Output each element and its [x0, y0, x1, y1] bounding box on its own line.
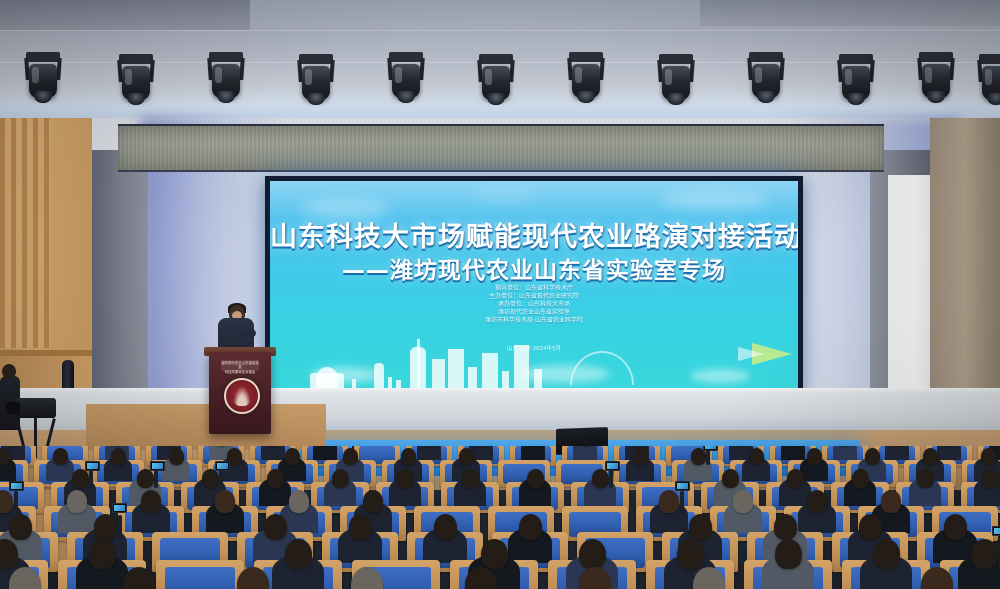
attendee-head	[67, 490, 87, 512]
smartphone-icon	[703, 446, 718, 451]
skyline-graphic	[270, 333, 798, 389]
attendee-head	[462, 469, 479, 488]
smartphone-icon	[85, 461, 100, 471]
camera-body	[16, 398, 56, 418]
attendee-head	[923, 448, 938, 465]
attendee-head	[527, 469, 544, 488]
attendee-shoulders	[833, 446, 858, 460]
attendee-head	[72, 469, 89, 488]
smartphone-icon	[605, 461, 620, 471]
stage-wood-rail	[86, 404, 326, 450]
credit-line: 潍坊现代农业山东省实验室	[270, 309, 798, 317]
attendee-head	[363, 490, 383, 512]
attendee-head	[111, 448, 126, 465]
attendee-head	[137, 469, 154, 488]
auditorium-seat[interactable]	[156, 560, 244, 589]
attendee-head	[633, 448, 648, 465]
smartphone-icon	[112, 503, 127, 513]
attendee-shoulders	[313, 446, 338, 460]
attendee-head	[944, 514, 967, 540]
attendee-head	[0, 490, 13, 512]
podium: 潍坊现代农业山东省实验室 科技成果转化对接会	[209, 352, 271, 434]
attendee-shoulders	[937, 446, 962, 460]
attendee-shoulders	[885, 446, 910, 460]
attendee-head	[401, 448, 416, 465]
attendee-head	[141, 490, 161, 512]
attendee-head	[519, 514, 542, 540]
attendee-head	[774, 514, 797, 540]
attendee-head	[9, 514, 32, 540]
attendee-head	[852, 469, 869, 488]
spotlight-icon	[835, 54, 877, 110]
smartphone-icon	[150, 461, 165, 471]
attendee-raised-arm	[706, 449, 710, 466]
attendee-head	[264, 514, 287, 540]
attendee-head	[332, 469, 349, 488]
attendee-head	[94, 514, 117, 540]
wood-slats	[0, 118, 50, 348]
attendee-head	[53, 448, 68, 465]
credit-line: 承办单位：山东科技大市场	[270, 301, 798, 309]
attendee-shoulders	[573, 446, 598, 460]
smartphone-icon	[215, 461, 230, 471]
attendee-shoulders	[261, 446, 286, 460]
attendee-shoulders	[417, 446, 442, 460]
attendee-head	[267, 469, 284, 488]
attendee-head	[659, 490, 679, 512]
attendee-head	[859, 514, 882, 540]
arrow-graphic	[738, 347, 764, 361]
attendee-head	[343, 448, 358, 465]
attendee-raised-arm	[118, 515, 122, 540]
podium-nameplate: 潍坊现代农业山东省实验室 科技成果转化对接会	[221, 360, 259, 371]
screen-subtitle: ——潍坊现代农业山东省实验室专场	[270, 251, 798, 285]
cloud-graphic	[470, 187, 540, 201]
ceiling-seam	[0, 30, 1000, 31]
attendee-head	[749, 448, 764, 465]
ceiling-panel-left	[0, 0, 250, 30]
attendee-head	[215, 490, 235, 512]
auditorium-photo: 山东科技大市场赋能现代农业路演对接活动 ——潍坊现代农业山东省实验室专场 指导单…	[0, 0, 1000, 589]
attendee-head	[677, 539, 704, 569]
spotlight-icon	[205, 52, 247, 108]
attendee-head	[917, 469, 934, 488]
podium-plate-line1: 潍坊现代农业山东省实验室	[221, 360, 259, 369]
attendee-head	[123, 567, 155, 589]
attendee-head	[0, 448, 10, 465]
attendee-head	[89, 539, 116, 569]
acoustic-soffit-panel	[118, 124, 884, 172]
credit-line: 潍坊市科学技术局 山东省农业科学院	[270, 317, 798, 325]
attendee-shoulders	[521, 446, 546, 460]
ceiling-panel-right	[700, 0, 1000, 26]
attendee-head	[592, 469, 609, 488]
credit-line: 指导单位：山东省科学技术厅	[270, 285, 798, 293]
spotlight-icon	[385, 52, 427, 108]
attendee-shoulders	[781, 446, 806, 460]
attendee-head	[169, 448, 184, 465]
smartphone-icon	[992, 526, 1000, 536]
attendee-head	[733, 490, 753, 512]
skyline-arch	[570, 351, 634, 385]
led-screen: 山东科技大市场赋能现代农业路演对接活动 ——潍坊现代农业山东省实验室专场 指导单…	[265, 176, 803, 394]
attendee-head	[285, 448, 300, 465]
attendee-head	[285, 539, 312, 569]
attendee-head	[881, 490, 901, 512]
attendee-head	[349, 514, 372, 540]
attendee-head	[807, 448, 822, 465]
spotlight-icon	[22, 52, 64, 108]
attendee-raised-arm	[14, 491, 18, 513]
spotlight-icon	[295, 54, 337, 110]
institution-emblem-icon	[224, 378, 260, 414]
led-screen-content: 山东科技大市场赋能现代农业路演对接活动 ——潍坊现代农业山东省实验室专场 指导单…	[270, 181, 798, 389]
attendee-head	[202, 469, 219, 488]
attendee-head	[289, 490, 309, 512]
attendee-raised-arm	[89, 469, 93, 488]
spotlight-icon	[115, 54, 157, 110]
attendee-raised-arm	[219, 469, 223, 488]
smartphone-icon	[9, 481, 24, 491]
attendee-raised-arm	[609, 469, 613, 488]
attendee-head	[397, 469, 414, 488]
audience-seating	[0, 446, 1000, 589]
spotlight-icon	[975, 54, 1000, 110]
screen-credits: 指导单位：山东省科学技术厅 主办单位：山东省现代农业研究院 承办单位：山东科技大…	[270, 285, 798, 325]
attendee-head	[982, 469, 999, 488]
attendee-head	[873, 539, 900, 569]
attendee-head	[807, 490, 827, 512]
attendee-raised-arm	[154, 469, 158, 488]
attendee-head	[0, 539, 18, 569]
attendee-head	[722, 469, 739, 488]
spotlight-icon	[565, 52, 607, 108]
attendee-head	[434, 514, 457, 540]
camera-lens	[6, 402, 20, 414]
spotlight-icon	[655, 54, 697, 110]
attendee-head	[981, 448, 996, 465]
attendee-head	[579, 539, 606, 569]
spotlight-icon	[745, 52, 787, 108]
attendee-head	[865, 448, 880, 465]
credit-line: 主办单位：山东省现代农业研究院	[270, 293, 798, 301]
attendee-head	[459, 448, 474, 465]
camera-operator-head	[2, 364, 16, 379]
attendee-head	[481, 539, 508, 569]
attendee-head	[971, 539, 998, 569]
podium-plate-line2: 科技成果转化对接会	[221, 369, 259, 374]
cloud-graphic	[660, 191, 770, 209]
screen-title: 山东科技大市场赋能现代农业路演对接活动	[270, 215, 798, 254]
spotlight-icon	[475, 54, 517, 110]
smartphone-icon	[675, 481, 690, 491]
attendee-head	[689, 514, 712, 540]
attendee-head	[787, 469, 804, 488]
spotlight-icon	[915, 52, 957, 108]
attendee-head	[775, 539, 802, 569]
attendee-raised-arm	[680, 491, 684, 513]
